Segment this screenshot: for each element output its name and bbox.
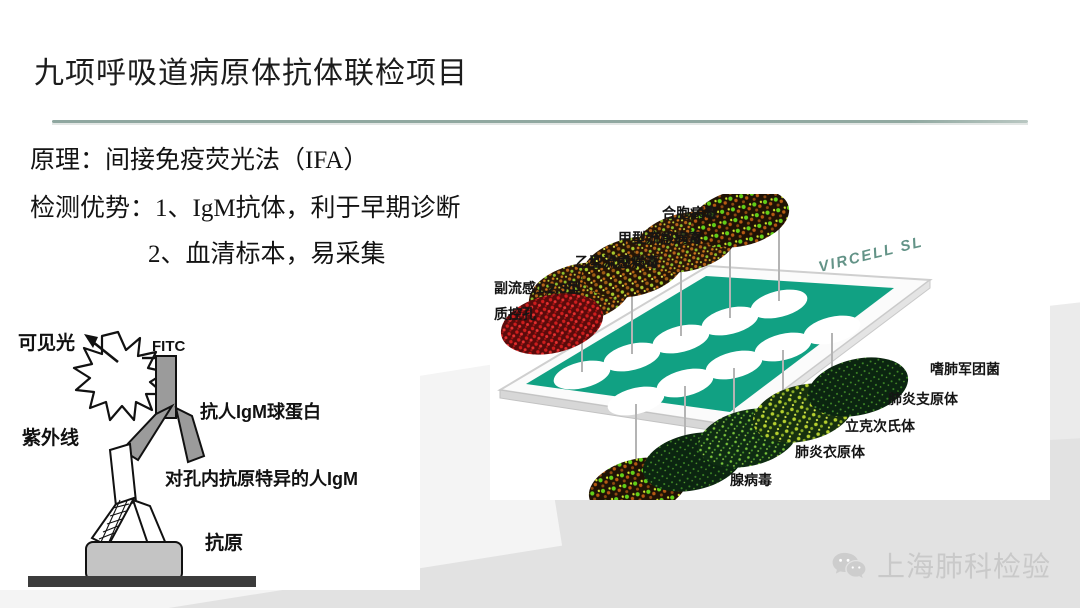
- advantage-line-2: 2、血清标本，易采集: [148, 234, 386, 270]
- slide-base-bar: [28, 576, 256, 587]
- label-visible-light: 可见光: [18, 328, 75, 355]
- label-antigen: 抗原: [205, 528, 243, 555]
- slide-canvas: 九项呼吸道病原体抗体联检项目 原理：间接免疫荧光法（IFA） 检测优势：1、Ig…: [0, 0, 1080, 608]
- watermark-text: 上海肺科检验: [877, 545, 1051, 585]
- label-adenovirus: 腺病毒: [730, 470, 772, 490]
- wechat-icon: [830, 550, 868, 580]
- vircell-plate-figure: VIRCELL SL: [490, 194, 1050, 500]
- ifa-principle-figure: 可见光 FITC 紫外线 抗人IgM球蛋白 对孔内抗原特异的人IgM 抗原: [0, 310, 420, 590]
- label-uv-light: 紫外线: [22, 423, 79, 450]
- label-influenza-a: 甲型流感病毒: [618, 228, 702, 248]
- label-mycoplasma: 肺炎支原体: [888, 389, 958, 409]
- label-rsv: 合胞病毒: [662, 203, 718, 223]
- label-fitc: FITC: [152, 338, 185, 355]
- label-influenza-b: 乙型流感病毒: [575, 252, 659, 272]
- footer-watermark: 上海肺科检验: [830, 545, 1051, 585]
- label-anti-human-igm-globulin: 抗人IgM球蛋白: [200, 398, 321, 424]
- principle-line: 原理：间接免疫荧光法（IFA）: [30, 140, 368, 176]
- page-title: 九项呼吸道病原体抗体联检项目: [34, 48, 468, 92]
- title-divider-shadow: [52, 123, 1028, 125]
- label-legionella: 嗜肺军团菌: [930, 359, 1000, 379]
- plate-illustration: VIRCELL SL: [490, 194, 1050, 500]
- label-chlamydia: 肺炎衣原体: [795, 442, 865, 462]
- plate-brand-text: VIRCELL SL: [817, 233, 925, 275]
- antigen-block: [86, 542, 182, 580]
- advantage-line-1: 检测优势：1、IgM抗体，利于早期诊断: [30, 188, 461, 224]
- label-qc-well: 质控孔: [494, 304, 536, 324]
- label-rickettsia: 立克次氏体: [845, 416, 915, 436]
- label-specific-human-igm: 对孔内抗原特异的人IgM: [165, 465, 358, 491]
- label-parainfluenza: 副流感1,2,3型: [494, 278, 581, 298]
